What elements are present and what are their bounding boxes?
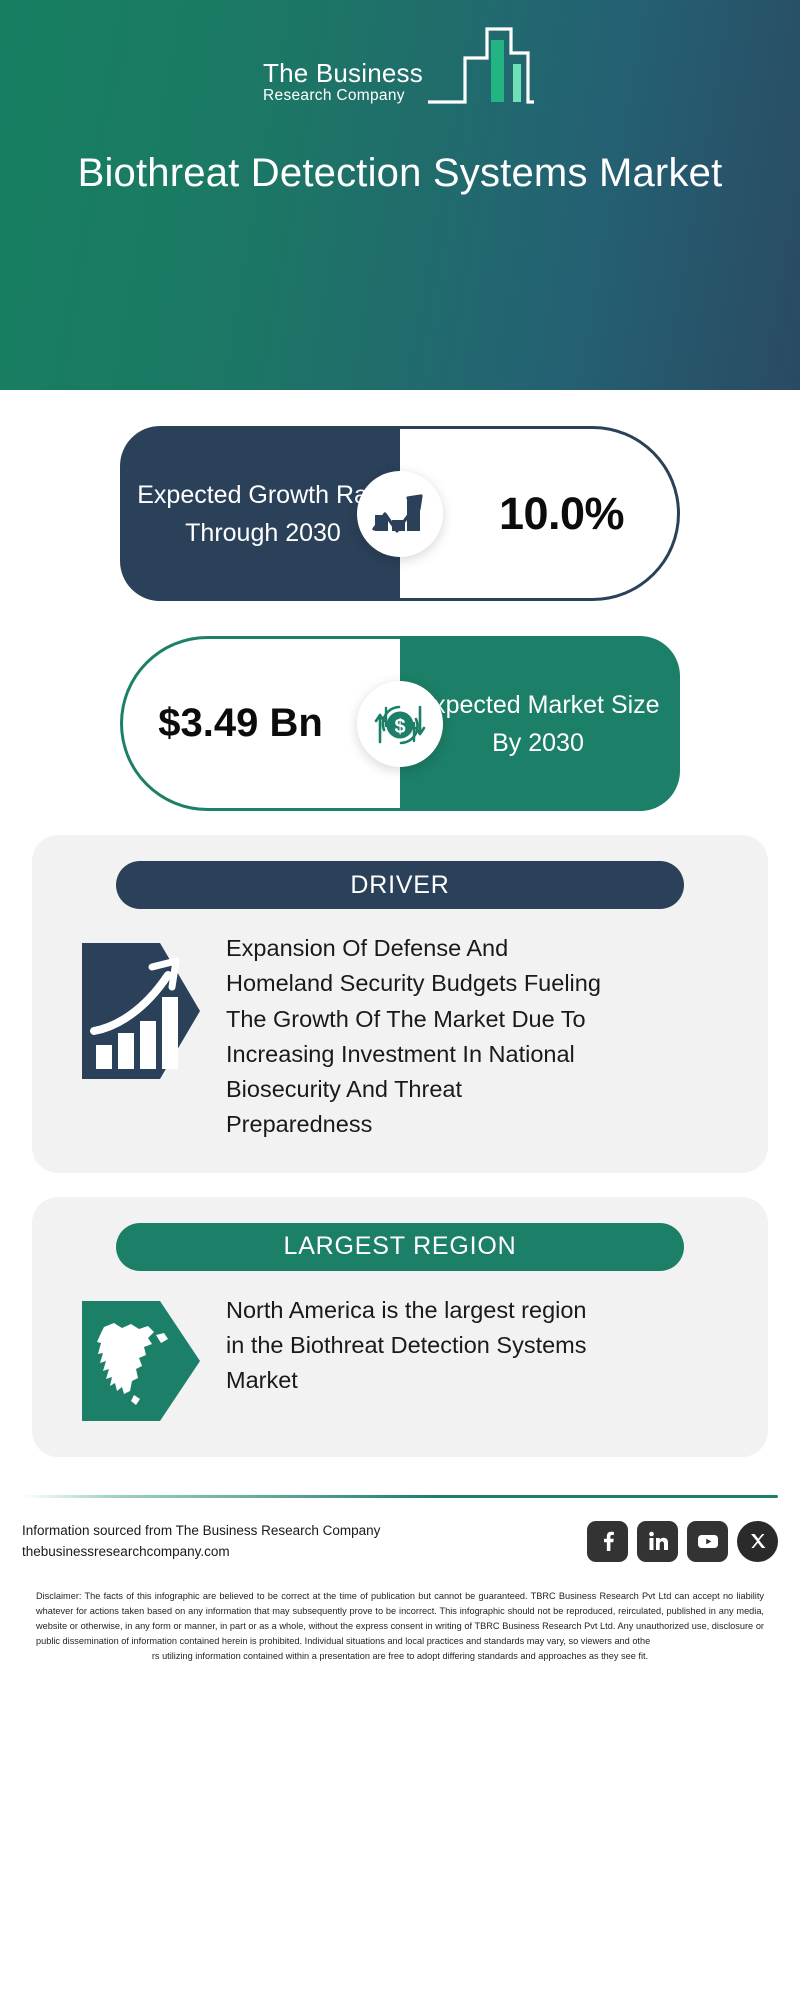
section-driver-body: Expansion Of Defense And Homeland Securi…: [226, 931, 606, 1143]
disclaimer-text: Disclaimer: The facts of this infographi…: [22, 1589, 778, 1682]
bar-chart-growth-icon: [357, 471, 443, 557]
stat-growth-value: 10.0%: [453, 488, 624, 540]
svg-text:$: $: [394, 716, 405, 738]
stat-market-size: $3.49 Bn Expected Market Size By 2030 $: [0, 636, 800, 811]
page-title: Biothreat Detection Systems Market: [70, 147, 730, 200]
footer-source-line-1: Information sourced from The Business Re…: [22, 1520, 380, 1542]
footer-divider: [22, 1495, 778, 1498]
footer-website-link[interactable]: thebusinessresearchcompany.com: [22, 1541, 380, 1563]
company-logo: The Business Research Company: [0, 22, 800, 113]
north-america-map-icon: [82, 1295, 200, 1427]
section-driver: DRIVER Expansion Of Defense And Homeland…: [32, 835, 768, 1173]
linkedin-icon[interactable]: [637, 1521, 678, 1562]
header-banner: The Business Research Company Biothreat …: [0, 0, 800, 390]
logo-wordmark: The Business Research Company: [263, 60, 423, 113]
facebook-icon[interactable]: [587, 1521, 628, 1562]
section-largest-region: LARGEST REGION North America is the larg…: [32, 1197, 768, 1457]
disclaimer-last-line: rs utilizing information contained withi…: [36, 1649, 764, 1664]
dollar-cycle-icon: $: [357, 681, 443, 767]
footer-source: Information sourced from The Business Re…: [22, 1520, 380, 1564]
stat-growth-rate: Expected Growth Rate Through 2030 10.0%: [0, 426, 800, 601]
logo-bar-chart-icon: [425, 22, 537, 113]
growth-arrow-chart-icon: [82, 935, 200, 1087]
x-twitter-icon[interactable]: [737, 1521, 778, 1562]
logo-line-1: The Business: [263, 60, 423, 86]
section-largest-region-heading: LARGEST REGION: [116, 1223, 684, 1271]
section-driver-heading: DRIVER: [116, 861, 684, 909]
infographic-page: The Business Research Company Biothreat …: [0, 0, 800, 2000]
section-largest-region-body: North America is the largest region in t…: [226, 1293, 606, 1399]
youtube-icon[interactable]: [687, 1521, 728, 1562]
stat-market-value: $3.49 Bn: [158, 697, 365, 750]
disclaimer-body: Disclaimer: The facts of this infographi…: [36, 1591, 764, 1646]
footer: Information sourced from The Business Re…: [0, 1495, 800, 1682]
logo-line-2: Research Company: [263, 86, 405, 107]
social-links: [587, 1521, 778, 1562]
